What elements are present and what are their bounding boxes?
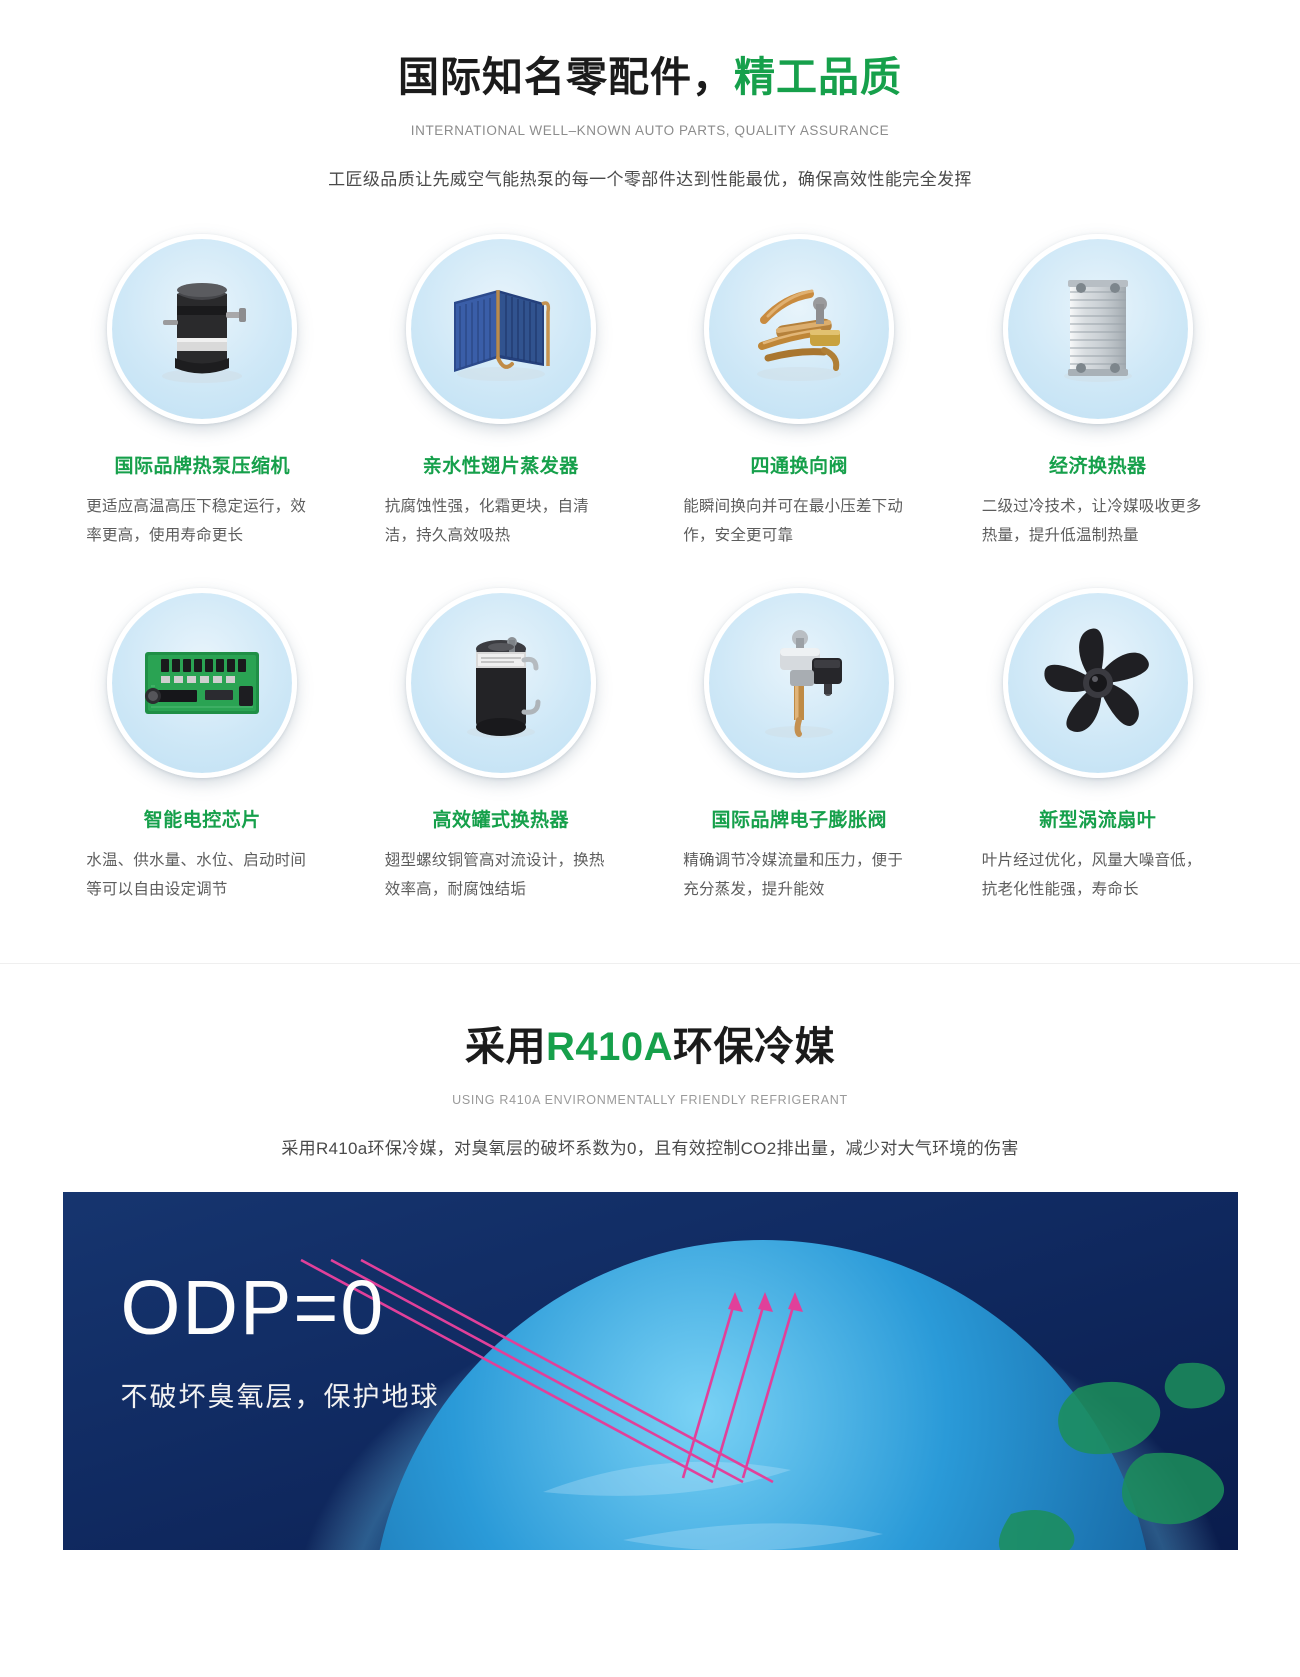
finned-evaporator-icon: [426, 254, 576, 404]
odp-value-label: ODP=0: [121, 1270, 440, 1347]
feature-description: 水温、供水量、水位、启动时间等可以自由设定调节: [86, 847, 318, 904]
page-title-accent: 精工品质: [734, 54, 902, 100]
refrigerant-title-suffix: 环保冷媒: [673, 1025, 835, 1069]
feature-card-compressor[interactable]: 国际品牌热泵压缩机 更适应高温高压下稳定运行，效率更高，使用寿命更长: [60, 234, 345, 550]
feature-card-expansion-valve[interactable]: 国际品牌电子膨胀阀 精确调节冷媒流量和压力，便于充分蒸发，提升能效: [657, 588, 942, 904]
page-title: 国际知名零配件，精工品质: [0, 52, 1300, 103]
icon-circle: [406, 588, 596, 778]
control-board-icon: [127, 608, 277, 758]
feature-card-tank-heat-exchanger[interactable]: 高效罐式换热器 翅型螺纹铜管高对流设计，换热效率高，耐腐蚀结垢: [359, 588, 644, 904]
tank-heat-exchanger-icon: [426, 608, 576, 758]
icon-circle: [107, 588, 297, 778]
expansion-valve-icon: [724, 608, 874, 758]
feature-description: 叶片经过优化，风量大噪音低，抗老化性能强，寿命长: [982, 847, 1214, 904]
feature-grid-row-2: 智能电控芯片 水温、供水量、水位、启动时间等可以自由设定调节: [60, 588, 1240, 904]
four-way-valve-icon: [724, 254, 874, 404]
feature-description: 翅型螺纹铜管高对流设计，换热效率高，耐腐蚀结垢: [385, 847, 617, 904]
section-divider: [0, 963, 1300, 964]
feature-title: 国际品牌热泵压缩机: [114, 456, 290, 479]
parts-section: 国际知名零配件，精工品质 INTERNATIONAL WELL–KNOWN AU…: [0, 0, 1300, 964]
feature-description: 二级过冷技术，让冷媒吸收更多热量，提升低温制热量: [982, 493, 1214, 550]
page-root: 国际知名零配件，精工品质 INTERNATIONAL WELL–KNOWN AU…: [0, 0, 1300, 1677]
icon-circle: [1003, 588, 1193, 778]
feature-title: 经济换热器: [1049, 456, 1147, 479]
feature-description: 能瞬间换向并可在最小压差下动作，安全更可靠: [683, 493, 915, 550]
odp-text-block: ODP=0 不破坏臭氧层，保护地球: [121, 1270, 440, 1414]
feature-card-four-way-valve[interactable]: 四通换向阀 能瞬间换向并可在最小压差下动作，安全更可靠: [657, 234, 942, 550]
feature-description: 精确调节冷媒流量和压力，便于充分蒸发，提升能效: [683, 847, 915, 904]
feature-description: 抗腐蚀性强，化霜更块，自清洁，持久高效吸热: [385, 493, 617, 550]
odp-banner: ODP=0 不破坏臭氧层，保护地球: [63, 1192, 1238, 1550]
page-title-main: 国际知名零配件，: [398, 54, 734, 100]
refrigerant-subtitle-english: USING R410A ENVIRONMENTALLY FRIENDLY REF…: [0, 1093, 1300, 1107]
feature-card-fan-blade[interactable]: 新型涡流扇叶 叶片经过优化，风量大噪音低，抗老化性能强，寿命长: [956, 588, 1241, 904]
feature-title: 智能电控芯片: [144, 810, 261, 833]
feature-title: 高效罐式换热器: [432, 810, 569, 833]
feature-title: 新型涡流扇叶: [1039, 810, 1156, 833]
icon-circle: [406, 234, 596, 424]
odp-caption: 不破坏臭氧层，保护地球: [121, 1375, 440, 1414]
feature-title: 亲水性翅片蒸发器: [423, 456, 579, 479]
feature-card-plate-heat-exchanger[interactable]: 经济换热器 二级过冷技术，让冷媒吸收更多热量，提升低温制热量: [956, 234, 1241, 550]
refrigerant-title: 采用R410A环保冷媒: [0, 1014, 1300, 1072]
feature-description: 更适应高温高压下稳定运行，效率更高，使用寿命更长: [86, 493, 318, 550]
feature-title: 四通换向阀: [750, 456, 848, 479]
parts-lead-paragraph: 工匠级品质让先威空气能热泵的每一个零部件达到性能最优，确保高效性能完全发挥: [0, 165, 1300, 190]
axial-fan-blade-icon: [1023, 608, 1173, 758]
feature-card-control-board[interactable]: 智能电控芯片 水温、供水量、水位、启动时间等可以自由设定调节: [60, 588, 345, 904]
scroll-compressor-icon: [127, 254, 277, 404]
refrigerant-title-accent: R410A: [546, 1025, 673, 1069]
plate-heat-exchanger-icon: [1023, 254, 1173, 404]
page-subtitle-english: INTERNATIONAL WELL–KNOWN AUTO PARTS, QUA…: [0, 123, 1300, 138]
icon-circle: [704, 234, 894, 424]
icon-circle: [1003, 234, 1193, 424]
refrigerant-section: 采用R410A环保冷媒 USING R410A ENVIRONMENTALLY …: [0, 964, 1300, 1550]
feature-title: 国际品牌电子膨胀阀: [711, 810, 887, 833]
refrigerant-title-prefix: 采用: [465, 1025, 546, 1069]
icon-circle: [704, 588, 894, 778]
feature-grid-row-1: 国际品牌热泵压缩机 更适应高温高压下稳定运行，效率更高，使用寿命更长: [60, 234, 1240, 550]
refrigerant-lead-paragraph: 采用R410a环保冷媒，对臭氧层的破坏系数为0，且有效控制CO2排出量，减少对大…: [0, 1134, 1300, 1159]
icon-circle: [107, 234, 297, 424]
feature-card-evaporator[interactable]: 亲水性翅片蒸发器 抗腐蚀性强，化霜更块，自清洁，持久高效吸热: [359, 234, 644, 550]
